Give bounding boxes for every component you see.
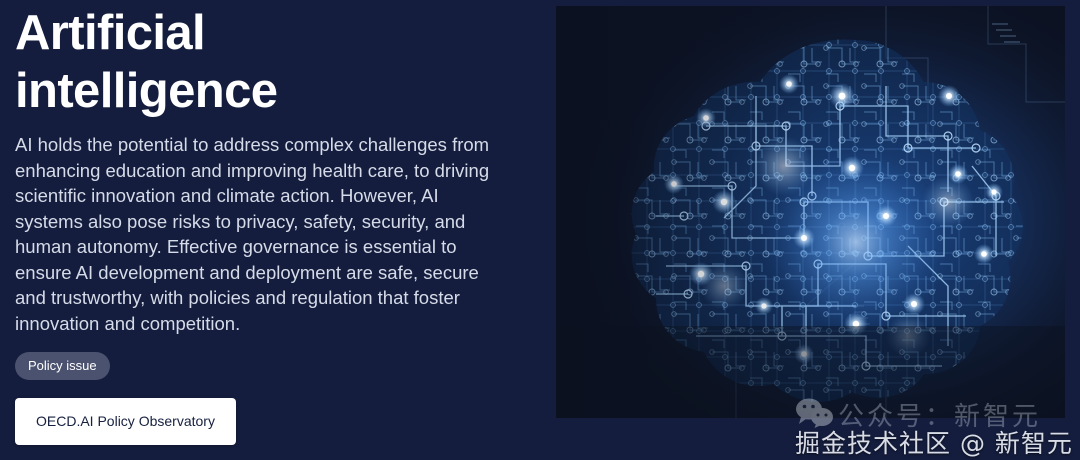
ai-hero-banner: Artificial intelligence AI holds the pot… bbox=[0, 0, 1080, 460]
hero-description: AI holds the potential to address comple… bbox=[15, 120, 502, 336]
status-badge: Policy issue bbox=[15, 352, 110, 380]
oecd-ai-policy-observatory-button[interactable]: OECD.AI Policy Observatory bbox=[15, 398, 236, 445]
wechat-icon bbox=[795, 398, 837, 428]
circuit-brain-illustration bbox=[556, 6, 1065, 418]
badge-row: Policy issue bbox=[15, 352, 515, 380]
watermark-community: 掘金技术社区 @ 新智元 bbox=[795, 424, 1073, 460]
hero-content: Artificial intelligence AI holds the pot… bbox=[15, 0, 515, 460]
hero-image bbox=[556, 6, 1065, 418]
page-title: Artificial intelligence bbox=[15, 0, 375, 120]
